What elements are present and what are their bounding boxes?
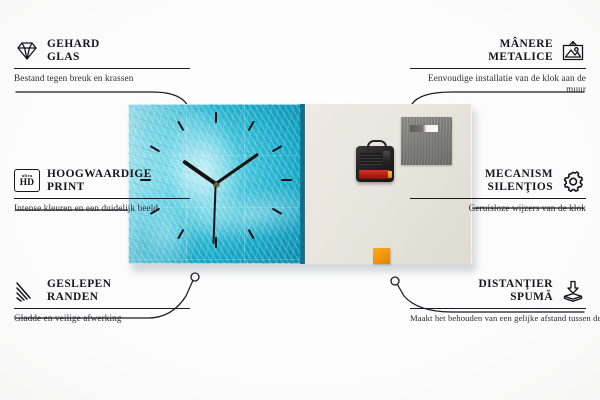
clock-tick (272, 208, 283, 215)
feature-geslepen-randen[interactable]: GESLEPENRANDEN Gladde en veilige afwerki… (14, 278, 190, 324)
feature-divider (14, 68, 190, 69)
feature-title: DISTANŢIERSPUMĂ (478, 278, 553, 305)
clock-tick (215, 237, 217, 248)
feature-head: ultra HD HOOGWAARDIGEPRINT (14, 168, 190, 195)
diagonal-edges-icon (14, 279, 40, 303)
feature-gehard-glas[interactable]: GEHARDGLAS Bestand tegen breuk en krasse… (14, 38, 190, 84)
feature-title: GESLEPENRANDEN (47, 278, 111, 305)
feature-description: Eenvoudige installatie van de klok aan d… (410, 73, 586, 96)
metal-hanger-plate (401, 117, 452, 165)
clock-mechanism (356, 146, 394, 182)
feature-description: Intense kleuren en een duidelijk beeld (14, 203, 190, 215)
feature-title: MECANISMSILENŢIOS (485, 168, 553, 195)
feature-title: MÂNEREMETALICE (488, 38, 553, 65)
ultra-hd-main-text: HD (20, 179, 34, 188)
aa-battery (359, 170, 390, 179)
gear-icon (560, 169, 586, 193)
feature-head: GESLEPENRANDEN (14, 278, 190, 305)
clock-tick (177, 121, 184, 132)
feature-description: Geruisloze wijzers van de klok (410, 203, 586, 215)
feature-description: Maakt het behouden van een gelijke afsta… (410, 313, 586, 325)
clock-center-cap (214, 182, 219, 187)
feature-divider (410, 198, 586, 199)
feature-distantier-spuma[interactable]: DISTANŢIERSPUMĂ Maakt het behouden van e… (410, 278, 586, 324)
feature-manere-metalice[interactable]: MÂNEREMETALICE Eenvoudige installatie va… (410, 38, 586, 96)
feature-head: DISTANŢIERSPUMĂ (410, 278, 586, 305)
diamond-icon (14, 39, 40, 63)
connector-dot-distantier (391, 277, 399, 285)
feature-head: GEHARDGLAS (14, 38, 190, 65)
feature-divider (14, 198, 190, 199)
clock-tick (177, 229, 184, 240)
mechanism-hanger-loop (367, 140, 387, 151)
clock-tick (215, 112, 217, 123)
connector-dot-randen (191, 273, 199, 281)
ultra-hd-icon: ultra HD (14, 169, 40, 193)
feature-title: GEHARDGLAS (47, 38, 100, 65)
hanger-slot (410, 125, 438, 132)
feature-description: Gladde en veilige afwerking (14, 313, 190, 325)
orange-foam-spacer (373, 248, 390, 264)
clock-tick (248, 121, 255, 132)
picture-frame-icon (560, 39, 586, 63)
feature-hoogwaardige-print[interactable]: ultra HD HOOGWAARDIGEPRINT Intense kleur… (14, 168, 190, 214)
clock-tick (281, 179, 292, 181)
clock-tick (248, 229, 255, 240)
feature-divider (410, 308, 586, 309)
feature-head: MÂNEREMETALICE (410, 38, 586, 65)
mechanism-vent (360, 153, 382, 165)
infographic-canvas: GEHARDGLAS Bestand tegen breuk en krasse… (0, 0, 600, 400)
feature-head: MECANISMSILENŢIOS (410, 168, 586, 195)
feature-mecanism-silentios[interactable]: MECANISMSILENŢIOS Geruisloze wijzers van… (410, 168, 586, 214)
clock-tick (150, 145, 161, 152)
clock-tick (272, 145, 283, 152)
feature-title: HOOGWAARDIGEPRINT (47, 168, 152, 195)
press-down-arrow-icon (560, 279, 586, 303)
glass-edge (300, 104, 305, 264)
feature-description: Bestand tegen breuk en krassen (14, 73, 190, 85)
feature-divider (410, 68, 586, 69)
feature-divider (14, 308, 190, 309)
mechanism-knob (383, 151, 390, 162)
